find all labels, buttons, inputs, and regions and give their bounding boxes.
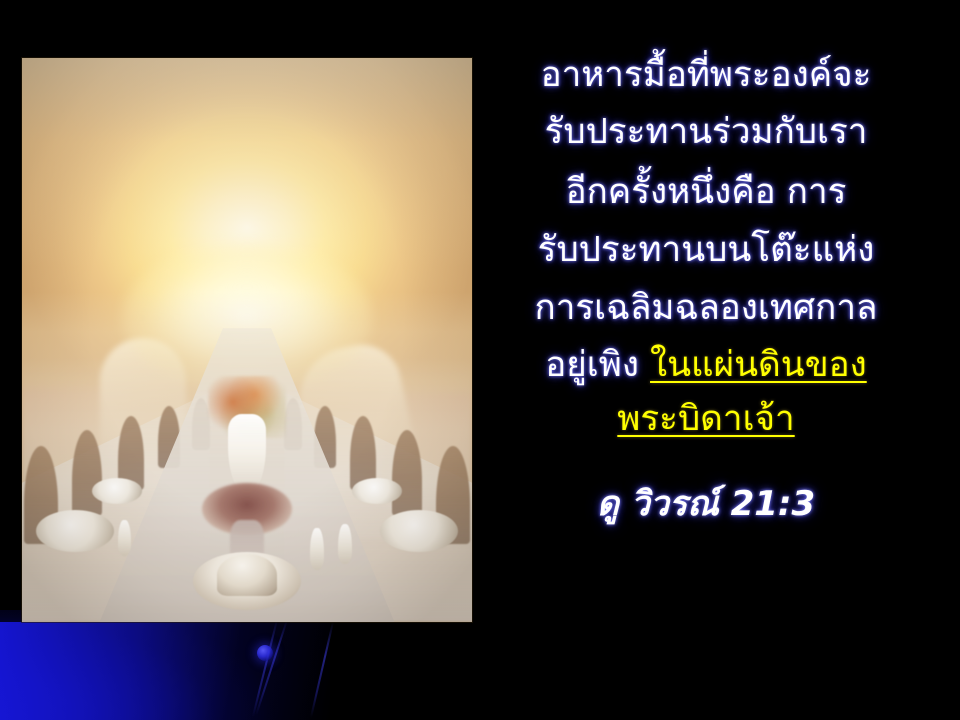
highlighted-phrase-part-2: พระบิดาเจ้า (617, 399, 794, 439)
blue-corner-gradient-decoration (0, 622, 330, 720)
body-line-1: อาหารมื้อที่พระองค์จะ (476, 58, 936, 94)
slide-text-block: อาหารมื้อที่พระองค์จะ รับประทานร่วมกับเร… (476, 58, 936, 530)
body-line-6: อยู่เพิง ในแผ่นดินของ (476, 348, 936, 384)
banquet-table-image (22, 58, 472, 622)
body-line-5: การเฉลิมฉลองเทศกาล (476, 291, 936, 327)
highlighted-phrase-part-1: ในแผ่นดินของ (650, 345, 867, 385)
blue-streak-line-icon (310, 622, 334, 718)
body-line-2: รับประทานร่วมกับเรา (476, 115, 936, 151)
image-vignette (22, 58, 472, 622)
blue-corner-glow-decoration (0, 610, 470, 720)
body-line-3: อีกครั้งหนึ่งคือ การ (476, 175, 936, 211)
body-line-4: รับประทานบนโต๊ะแห่ง (476, 233, 936, 269)
scripture-reference: ดู วิวรณ์ 21:3 (476, 476, 936, 530)
body-line-7: พระบิดาเจ้า (476, 402, 936, 438)
blue-streak-line-icon (255, 620, 288, 716)
blue-streak-line-icon (252, 620, 278, 718)
slide-canvas: อาหารมื้อที่พระองค์จะ รับประทานร่วมกับเร… (0, 0, 960, 720)
body-line-6-plain: อยู่เพิง (545, 345, 650, 385)
blue-sphere-bullet-decoration (257, 645, 273, 661)
